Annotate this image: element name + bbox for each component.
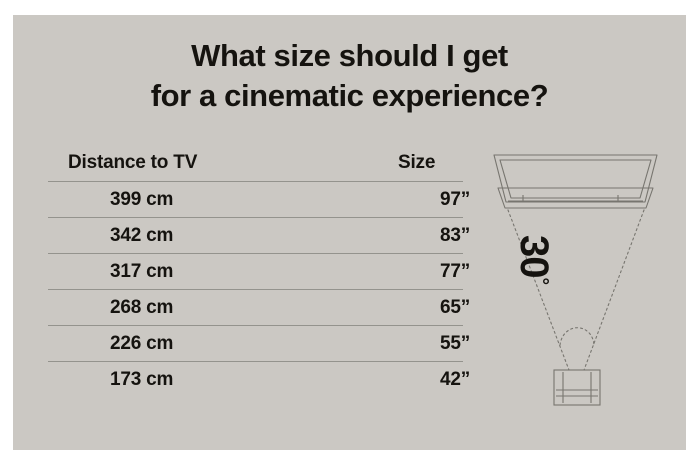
column-header-distance: Distance to TV [48, 152, 398, 174]
table-header-row: Distance to TV Size [48, 145, 463, 181]
tv-screen-icon [494, 155, 657, 202]
table-row: 317 cm 77” [48, 254, 463, 289]
cell-distance: 317 cm [48, 261, 440, 283]
table-row: 268 cm 65” [48, 290, 463, 325]
column-header-size: Size [398, 152, 463, 174]
title-line-1: What size should I get [13, 36, 686, 76]
cell-distance: 173 cm [48, 369, 440, 391]
cell-distance: 268 cm [48, 297, 440, 319]
table-row: 399 cm 97” [48, 182, 463, 217]
viewing-angle-line-left [508, 210, 569, 370]
cell-size: 83” [440, 225, 470, 247]
cell-size: 97” [440, 189, 470, 211]
info-card: What size should I get for a cinematic e… [13, 15, 686, 450]
cell-size: 65” [440, 297, 470, 319]
cell-size: 77” [440, 261, 470, 283]
cell-distance: 226 cm [48, 333, 440, 355]
table-row: 342 cm 83” [48, 218, 463, 253]
page-title: What size should I get for a cinematic e… [13, 36, 686, 115]
angle-arc [560, 328, 594, 345]
viewing-angle-line-right [584, 210, 644, 370]
angle-label: 30° [511, 235, 556, 284]
viewing-angle-diagram: 30° [468, 140, 683, 430]
cell-size: 42” [440, 369, 470, 391]
cell-distance: 342 cm [48, 225, 440, 247]
angle-value: 30 [512, 235, 556, 278]
cell-size: 55” [440, 333, 470, 355]
table-row: 226 cm 55” [48, 326, 463, 361]
title-line-2: for a cinematic experience? [13, 76, 686, 116]
size-table: Distance to TV Size 399 cm 97” 342 cm 83… [48, 145, 463, 397]
sofa-icon [554, 370, 600, 405]
cell-distance: 399 cm [48, 189, 440, 211]
table-row: 173 cm 42” [48, 362, 463, 397]
degree-symbol: ° [530, 278, 551, 285]
